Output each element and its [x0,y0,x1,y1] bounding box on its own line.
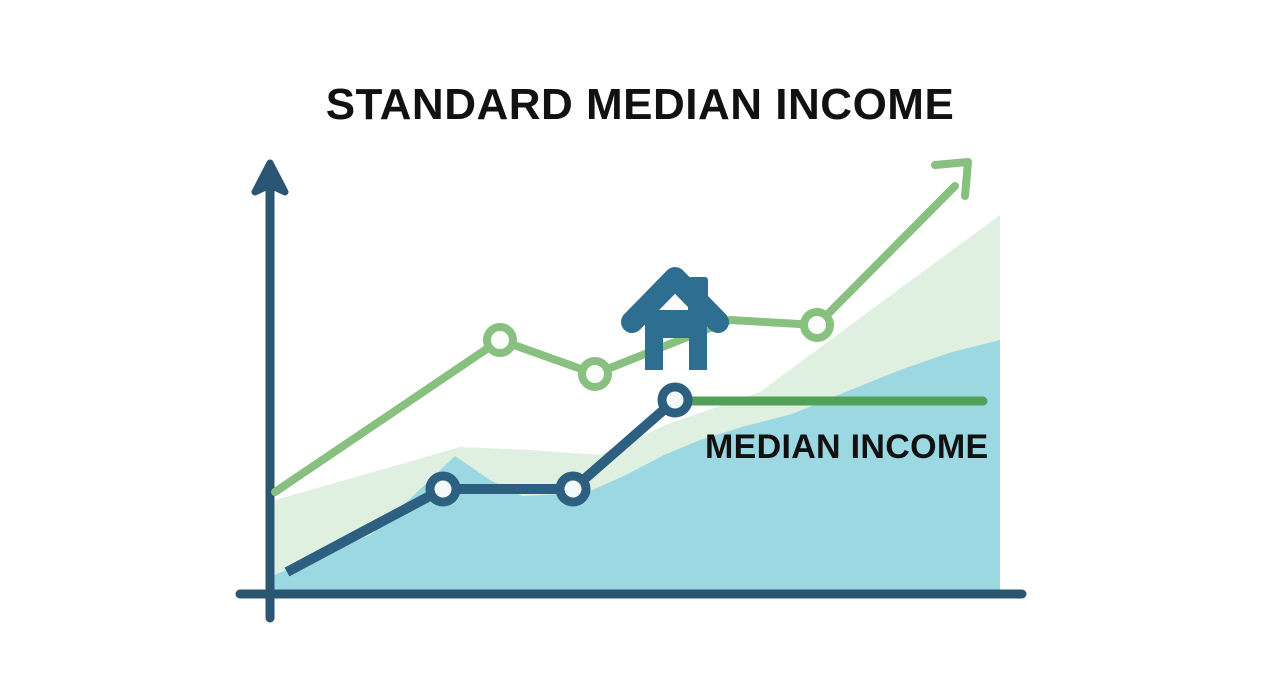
income-marker-1[interactable] [430,476,456,502]
income-infographic: STANDARD MEDIAN INCOME MEDIAN INCOME [0,0,1280,698]
median-income-label: MEDIAN INCOME [705,428,988,467]
trend-marker-3[interactable] [804,312,830,338]
trend-marker-2[interactable] [582,361,608,387]
arrow-up-icon [255,163,285,192]
income-marker-2[interactable] [560,476,586,502]
income-marker-3[interactable] [662,387,688,413]
house-wall-left [645,310,663,370]
house-wall-right [689,310,707,370]
page-title: STANDARD MEDIAN INCOME [0,80,1280,130]
trend-marker-1[interactable] [487,327,513,353]
